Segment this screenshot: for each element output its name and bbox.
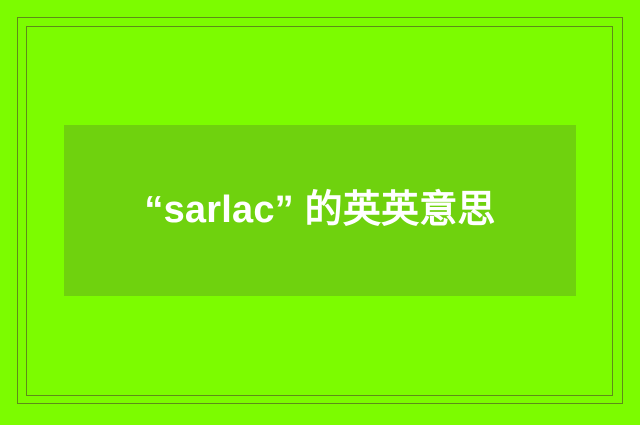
banner-canvas: “sarlac” 的英英意思 [0, 0, 640, 425]
headline-text: “sarlac” 的英英意思 [64, 184, 576, 238]
headline-panel: “sarlac” 的英英意思 [64, 125, 576, 296]
